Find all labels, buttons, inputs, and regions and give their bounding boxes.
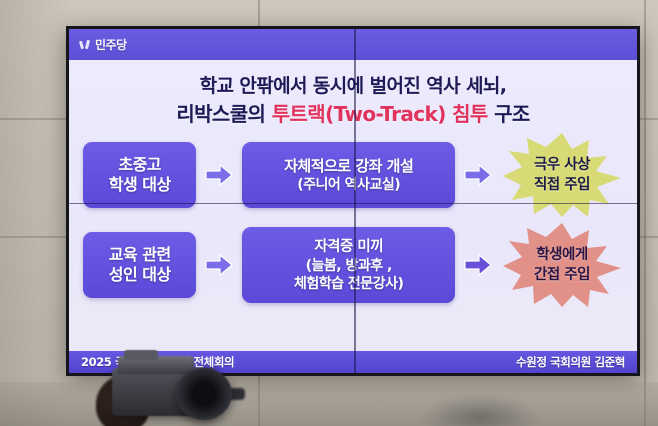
outcome-burst-row2-text: 학생에게 간접 주입 bbox=[534, 245, 590, 285]
slide-title-line1: 학교 안팎에서 동시에 벌어진 역사 세뇌, bbox=[83, 74, 623, 99]
diagram-rows: 초중고 학생 대상 자체적으로 강좌 개설 (주니어 역사교실) bbox=[83, 140, 623, 300]
slide-header-bar: 민주당 bbox=[69, 29, 637, 60]
outcome-burst-row2: 학생에게 간접 주입 bbox=[501, 222, 623, 308]
target-box-row2: 교육 관련 성인 대상 bbox=[83, 232, 196, 298]
target-box-row1-line1: 초중고 bbox=[118, 155, 161, 176]
target-box-row2-line2: 성인 대상 bbox=[109, 265, 171, 286]
slide-title-line2-pre: 리박스쿨의 bbox=[176, 102, 271, 126]
right-arrow-icon-row1-b bbox=[463, 162, 493, 188]
tripod-blur bbox=[420, 394, 540, 426]
outcome-burst-row1-line1: 극우 사상 bbox=[534, 155, 590, 175]
method-box-row1-line1: 자체적으로 강좌 개설 bbox=[284, 157, 413, 177]
wall-shadow bbox=[0, 0, 72, 426]
outcome-burst-row1-line2: 직접 주입 bbox=[534, 175, 590, 195]
diagram-row-1: 초중고 학생 대상 자체적으로 강좌 개설 (주니어 역사교실) bbox=[83, 140, 623, 210]
method-box-row1: 자체적으로 강좌 개설 (주니어 역사교실) bbox=[242, 142, 455, 208]
method-box-row2: 자격증 미끼 (늘봄, 방과후 , 체험학습 전문강사) bbox=[242, 227, 455, 303]
slide-title-highlight: 투트랙(Two-Track) 침투 bbox=[272, 102, 488, 126]
method-box-row2-line3: 체험학습 전문강사) bbox=[294, 275, 403, 293]
diagram-row-2: 교육 관련 성인 대상 자격증 미끼 (늘봄, 방과후 , 체험학습 전문강사) bbox=[83, 230, 623, 300]
outcome-burst-row1: 극우 사상 직접 주입 bbox=[501, 132, 623, 218]
outcome-burst-row2-line1: 학생에게 bbox=[534, 245, 590, 265]
slide-title-line2: 리박스쿨의 투트랙(Two-Track) 침투 구조 bbox=[83, 101, 623, 127]
wall-seam-vertical-2 bbox=[644, 0, 646, 426]
slide-title-line2-post: 구조 bbox=[488, 102, 530, 126]
party-logo-text: 민주당 bbox=[95, 36, 127, 53]
press-conference-scene: 민주당 학교 안팎에서 동시에 벌어진 역사 세뇌, 리박스쿨의 투트랙(Two… bbox=[0, 0, 658, 426]
method-box-row1-line2: (주니어 역사교실) bbox=[297, 176, 400, 194]
video-wall-monitor: 민주당 학교 안팎에서 동시에 벌어진 역사 세뇌, 리박스쿨의 투트랙(Two… bbox=[66, 26, 640, 376]
right-arrow-icon-row1-a bbox=[204, 162, 234, 188]
slide-title: 학교 안팎에서 동시에 벌어진 역사 세뇌, 리박스쿨의 투트랙(Two-Tra… bbox=[83, 60, 623, 127]
right-arrow-icon-row2-b bbox=[463, 252, 493, 278]
slide-body: 학교 안팎에서 동시에 벌어진 역사 세뇌, 리박스쿨의 투트랙(Two-Tra… bbox=[69, 60, 637, 351]
right-arrow-icon-row2-a bbox=[204, 252, 234, 278]
party-logo: 민주당 bbox=[79, 36, 127, 53]
target-box-row1-line2: 학생 대상 bbox=[109, 175, 171, 196]
method-box-row2-line2: (늘봄, 방과후 , bbox=[306, 257, 392, 275]
video-camera-hood bbox=[124, 350, 158, 360]
outcome-burst-row1-text: 극우 사상 직접 주입 bbox=[534, 155, 590, 195]
method-box-row2-line1: 자격증 미끼 bbox=[314, 238, 383, 257]
target-box-row1: 초중고 학생 대상 bbox=[83, 142, 196, 208]
target-box-row2-line1: 교육 관련 bbox=[109, 245, 171, 266]
outcome-burst-row2-line2: 간접 주입 bbox=[534, 265, 590, 285]
slide-footer-right: 수원정 국회의원 김준혁 bbox=[516, 354, 625, 370]
slide-screen: 민주당 학교 안팎에서 동시에 벌어진 역사 세뇌, 리박스쿨의 투트랙(Two… bbox=[69, 29, 637, 373]
democratic-party-logo-icon bbox=[79, 39, 92, 50]
video-camera-lens bbox=[176, 368, 232, 420]
